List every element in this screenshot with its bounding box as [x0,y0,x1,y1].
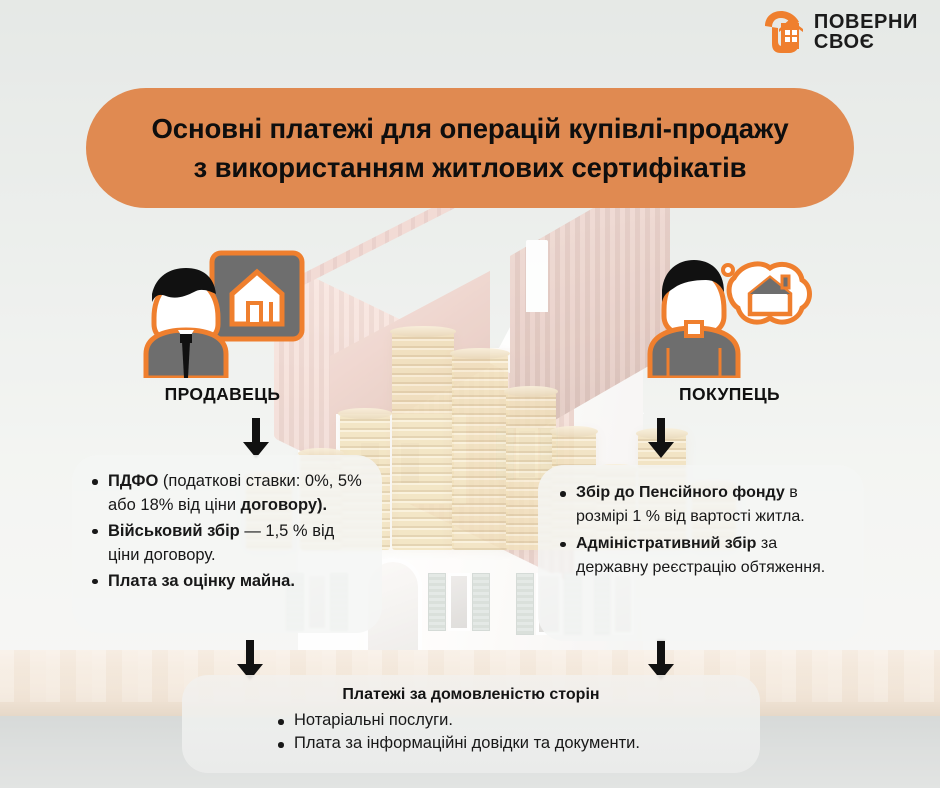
list-item: ПДФО (податкові ставки: 0%, 5% або 18% в… [88,469,364,518]
page-title-line2: з використанням житлових сертифікатів [194,152,747,183]
seller-item-1-bold: Військовий збір [108,522,244,540]
seller-label: ПРОДАВЕЦЬ [165,384,281,405]
brand-logo-line1: ПОВЕРНИ [814,12,918,32]
arrow-down-icon-seller-to-card [243,418,269,458]
list-item: Військовий збір — 1,5 % від ціни договор… [88,519,364,568]
seller-item-0-bold-tail: договору). [241,496,327,514]
hand-house-icon [759,8,805,56]
buyer-label: ПОКУПЕЦЬ [679,384,780,405]
buyer-block: ПОКУПЕЦЬ [642,250,817,405]
agreed-payments-title: Платежі за домовленістю сторін [204,686,738,704]
buyer-payments-card: Збір до Пенсійного фонду в розмірі 1 % в… [538,465,864,641]
list-item: Плата за інформаційні довідки та докумен… [274,732,738,755]
seller-person-with-house-board-icon [138,250,308,378]
seller-item-0-bold: ПДФО [108,472,163,490]
arrow-down-icon-buyer-to-card [648,418,674,458]
seller-item-2-bold: Плата за оцінку майна. [108,572,295,590]
page-title: Основні платежі для операцій купівлі-про… [151,109,788,187]
seller-payments-card: ПДФО (податкові ставки: 0%, 5% або 18% в… [72,455,382,633]
brand-logo-text: ПОВЕРНИ СВОЄ [814,12,918,53]
title-banner: Основні платежі для операцій купівлі-про… [86,88,854,208]
agreed-payments-card: Платежі за домовленістю сторін Нотаріаль… [182,675,760,773]
agreed-payments-list: Нотаріальні послуги. Плата за інформацій… [204,709,738,756]
page-title-line1: Основні платежі для операцій купівлі-про… [151,113,788,144]
arrow-down-icon-buyer-card-to-bottom [648,640,674,680]
infographic-content: ПОВЕРНИ СВОЄ Основні платежі для операці… [0,0,940,788]
list-item: Нотаріальні послуги. [274,709,738,732]
buyer-item-0-bold: Збір до Пенсійного фонду [576,484,789,501]
seller-block: ПРОДАВЕЦЬ [130,250,315,405]
list-item: Адміністративний збір за державну реєстр… [556,532,844,581]
seller-payments-list: ПДФО (податкові ставки: 0%, 5% або 18% в… [88,469,364,593]
list-item: Збір до Пенсійного фонду в розмірі 1 % в… [556,481,844,530]
buyer-payments-list: Збір до Пенсійного фонду в розмірі 1 % в… [556,481,844,580]
buyer-person-with-house-thought-bubble-icon [646,250,814,378]
brand-logo[interactable]: ПОВЕРНИ СВОЄ [759,8,918,56]
arrow-down-icon-seller-card-to-bottom [237,640,263,680]
brand-logo-line2: СВОЄ [814,32,918,52]
buyer-item-1-bold: Адміністративний збір [576,535,761,552]
list-item: Плата за оцінку майна. [88,569,364,593]
